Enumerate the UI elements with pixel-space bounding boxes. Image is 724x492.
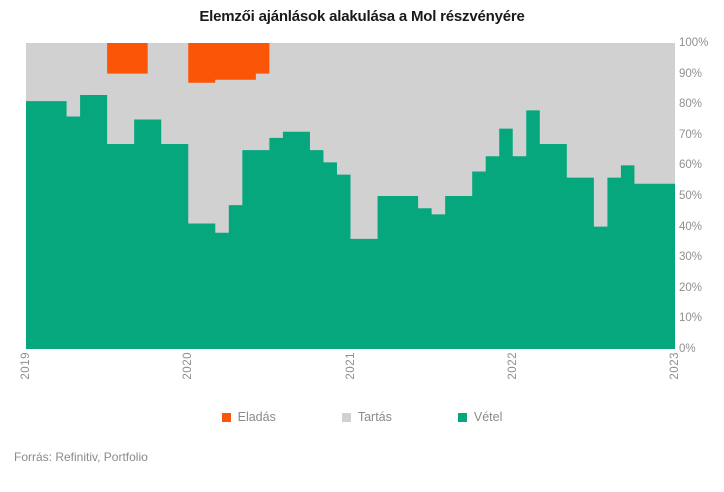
y-axis-tick: 70% <box>679 129 702 141</box>
y-axis-tick: 0% <box>679 343 696 355</box>
legend-swatch-icon <box>222 413 231 422</box>
y-axis-tick: 20% <box>679 282 702 294</box>
y-axis-tick: 10% <box>679 312 702 324</box>
y-axis-tick: 80% <box>679 98 702 110</box>
legend-label: Tartás <box>358 410 392 424</box>
x-axis-tick: 2023 <box>669 352 681 380</box>
plot-area <box>26 43 675 349</box>
legend-swatch-icon <box>342 413 351 422</box>
x-axis-tick: 2021 <box>345 352 357 380</box>
page-title: Elemzői ajánlások alakulása a Mol részvé… <box>0 8 724 25</box>
legend-swatch-icon <box>458 413 467 422</box>
chart-figure: Elemzői ajánlások alakulása a Mol részvé… <box>0 0 724 492</box>
x-axis-tick: 2019 <box>20 352 32 380</box>
x-axis: 20192020202120222023 <box>26 352 675 400</box>
legend-item-tartas[interactable]: Tartás <box>342 410 392 424</box>
legend-item-eladas[interactable]: Eladás <box>222 410 276 424</box>
legend-item-vetel[interactable]: Vétel <box>458 410 503 424</box>
y-axis-tick: 50% <box>679 190 702 202</box>
y-axis: 0%10%20%30%40%50%60%70%80%90%100% <box>679 43 724 349</box>
y-axis-tick: 60% <box>679 159 702 171</box>
x-axis-tick: 2022 <box>507 352 519 380</box>
chart-legend: EladásTartásVétel <box>0 410 724 424</box>
y-axis-tick: 30% <box>679 251 702 263</box>
source-note: Forrás: Refinitiv, Portfolio <box>14 450 148 464</box>
legend-label: Eladás <box>238 410 276 424</box>
y-axis-tick: 40% <box>679 221 702 233</box>
legend-label: Vétel <box>474 410 503 424</box>
x-axis-tick: 2020 <box>182 352 194 380</box>
y-axis-tick: 90% <box>679 68 702 80</box>
stacked-area-plot <box>26 43 675 349</box>
y-axis-tick: 100% <box>679 37 708 49</box>
